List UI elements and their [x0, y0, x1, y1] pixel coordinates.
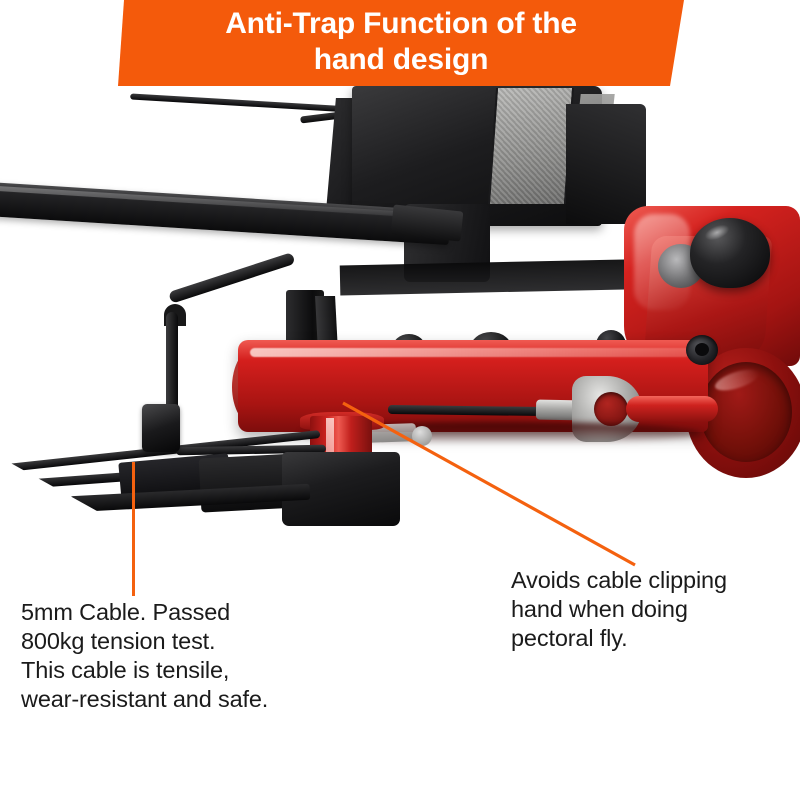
callout-text-cable-spec: 5mm Cable. Passed 800kg tension test. Th…: [21, 598, 321, 714]
callout-line: hand when doing: [511, 595, 776, 624]
red-frame-body-highlight: [250, 348, 690, 357]
callout-line: 800kg tension test.: [21, 627, 321, 656]
banner-title: Anti-Trap Function of the hand design: [186, 6, 616, 78]
callout-line: 5mm Cable. Passed: [21, 598, 321, 627]
product-photo: [0, 86, 800, 526]
banner-title-line-2: hand design: [314, 43, 488, 76]
grey-pad-panel: [488, 88, 574, 204]
black-wire-guard-diagonal: [168, 252, 295, 304]
frame-foot-rivet: [412, 426, 432, 446]
callout-line: Avoids cable clipping: [511, 566, 776, 595]
machine-housing-shadow-band: [340, 259, 671, 296]
callout-line: wear-resistant and safe.: [21, 685, 321, 714]
header-banner: Anti-Trap Function of the hand design: [118, 0, 684, 86]
callout-line: This cable is tensile,: [21, 656, 321, 685]
black-adjustment-knob: [690, 218, 770, 288]
hex-bolt-socket-hole: [695, 343, 709, 356]
banner-title-line-1: Anti-Trap Function of the: [225, 7, 577, 40]
black-cable-clip: [142, 404, 180, 452]
machine-housing-right: [566, 104, 646, 224]
callout-line: pectoral fly.: [511, 624, 776, 653]
callout-text-anti-trap-benefit: Avoids cable clipping hand when doing pe…: [511, 566, 776, 653]
product-feature-image: Anti-Trap Function of the hand design: [0, 0, 800, 800]
red-anchor-rod: [626, 396, 718, 422]
callout-leader-line-left: [132, 462, 135, 596]
clevis-pin-hole: [594, 392, 628, 426]
